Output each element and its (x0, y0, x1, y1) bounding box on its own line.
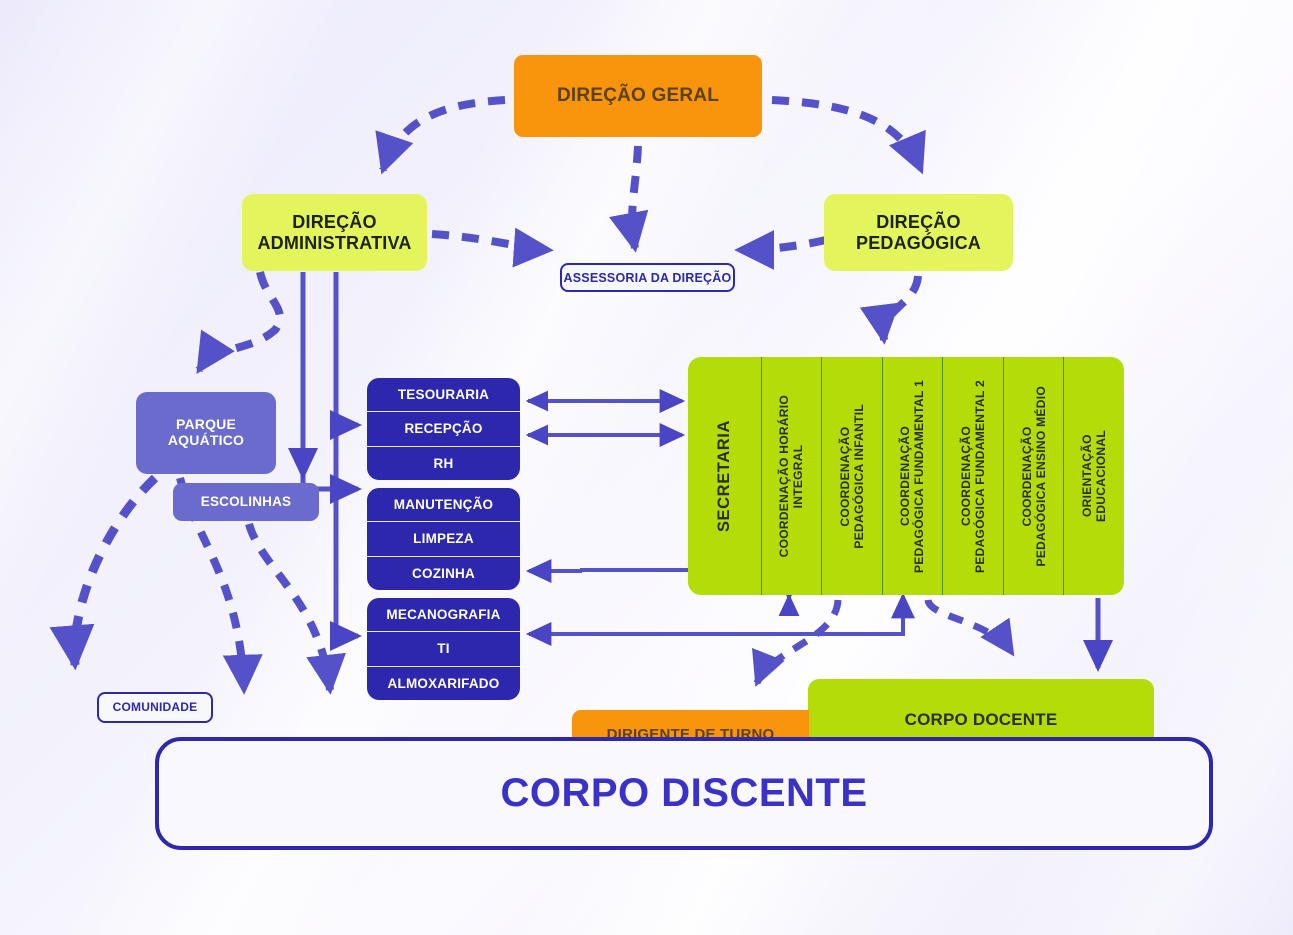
secretaria-column[interactable]: COORDENAÇÃO PEDAGÓGICA ENSINO MÉDIO (1004, 357, 1065, 595)
stack-item[interactable]: RECEPÇÃO (367, 412, 520, 446)
secretaria-column[interactable]: SECRETARIA (688, 357, 762, 595)
stack-item[interactable]: LIMPEZA (367, 522, 520, 556)
secretaria-column-label: SECRETARIA (715, 420, 734, 532)
secretaria-column-label: COORDENAÇÃO PEDAGÓGICA FUNDAMENTAL 1 (898, 380, 926, 573)
secretaria-column-label: COORDENAÇÃO PEDAGÓGICA INFANTIL (838, 404, 866, 549)
stack-item[interactable]: MECANOGRAFIA (367, 598, 520, 632)
node-escolinhas[interactable]: ESCOLINHAS (173, 483, 319, 521)
node-assessoria-da-direcao[interactable]: ASSESSORIA DA DIREÇÃO (560, 263, 735, 292)
node-direcao-administrativa[interactable]: DIREÇÃO ADMINISTRATIVA (242, 194, 427, 271)
stack-item[interactable]: TI (367, 632, 520, 666)
secretaria-column-label: COORDENAÇÃO PEDAGÓGICA FUNDAMENTAL 2 (959, 380, 987, 573)
node-parque-aquatico[interactable]: PARQUE AQUÁTICO (136, 392, 276, 474)
stack-item[interactable]: ALMOXARIFADO (367, 667, 520, 700)
stack-item[interactable]: TESOURARIA (367, 378, 520, 412)
secretaria-column-label: COORDENAÇÃO PEDAGÓGICA ENSINO MÉDIO (1020, 386, 1048, 566)
stack-item[interactable]: COZINHA (367, 557, 520, 590)
secretaria-column[interactable]: COORDENAÇÃO PEDAGÓGICA FUNDAMENTAL 2 (943, 357, 1004, 595)
secretaria-column[interactable]: COORDENAÇÃO HORÁRIO INTEGRAL (762, 357, 823, 595)
stack-item[interactable]: RH (367, 447, 520, 480)
node-comunidade[interactable]: COMUNIDADE (97, 692, 213, 723)
stack-apoio: MECANOGRAFIA TI ALMOXARIFADO (367, 598, 520, 700)
node-corpo-discente[interactable]: CORPO DISCENTE (155, 737, 1213, 850)
node-secretaria-block: SECRETARIA COORDENAÇÃO HORÁRIO INTEGRAL … (688, 357, 1124, 595)
secretaria-column[interactable]: ORIENTAÇÃO EDUCACIONAL (1064, 357, 1124, 595)
node-direcao-pedagogica[interactable]: DIREÇÃO PEDAGÓGICA (824, 194, 1013, 271)
organogram-canvas: DIREÇÃO GERAL DIREÇÃO ADMINISTRATIVA DIR… (0, 0, 1293, 935)
secretaria-column[interactable]: COORDENAÇÃO PEDAGÓGICA FUNDAMENTAL 1 (883, 357, 944, 595)
node-direcao-geral[interactable]: DIREÇÃO GERAL (514, 55, 762, 137)
secretaria-column[interactable]: COORDENAÇÃO PEDAGÓGICA INFANTIL (822, 357, 883, 595)
stack-financeiro: TESOURARIA RECEPÇÃO RH (367, 378, 520, 480)
stack-servicos: MANUTENÇÃO LIMPEZA COZINHA (367, 488, 520, 590)
stack-item[interactable]: MANUTENÇÃO (367, 488, 520, 522)
secretaria-column-label: COORDENAÇÃO HORÁRIO INTEGRAL (777, 395, 805, 557)
secretaria-column-label: ORIENTAÇÃO EDUCACIONAL (1080, 430, 1108, 522)
